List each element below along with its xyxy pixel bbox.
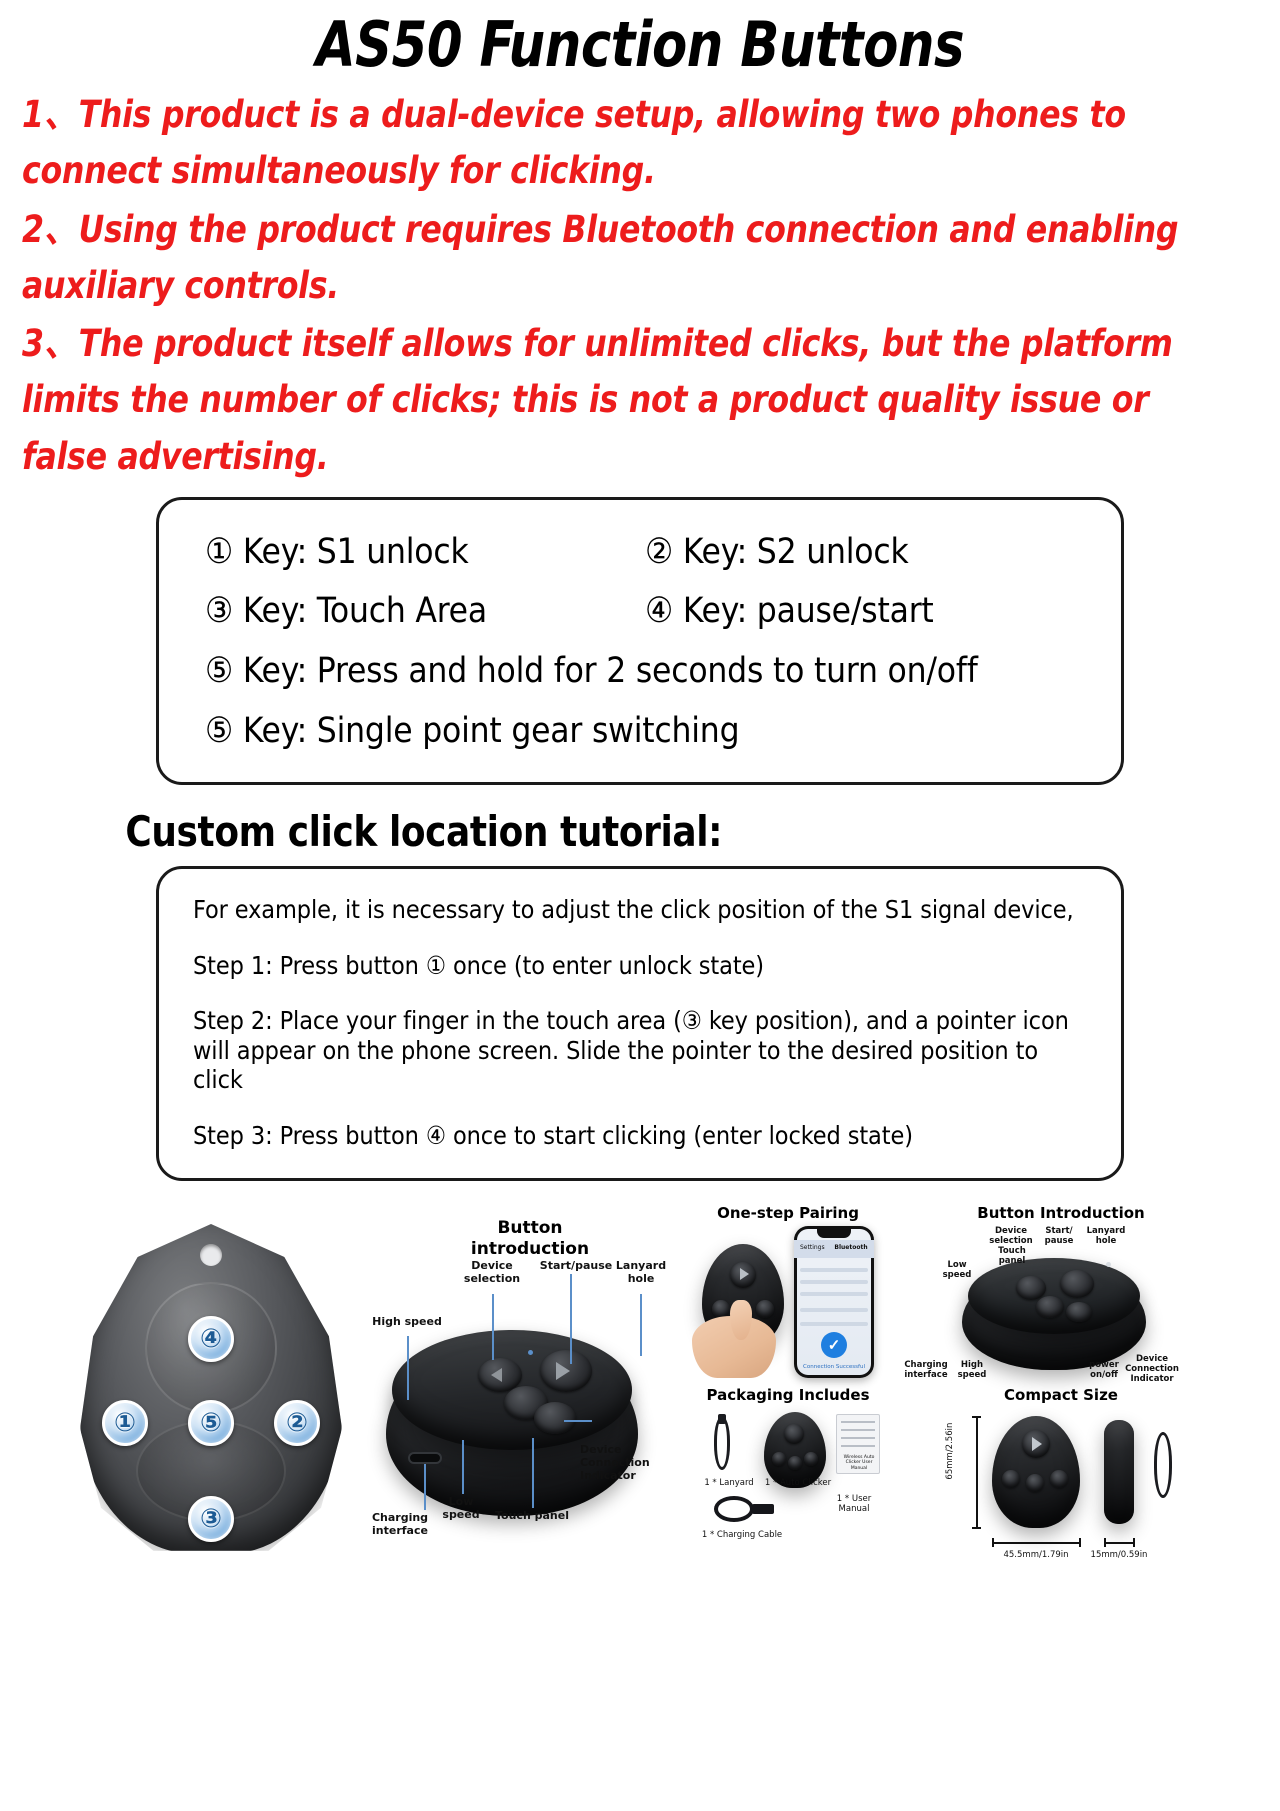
leader-start-pause [570, 1274, 572, 1364]
compact-button-a [1002, 1470, 1020, 1488]
key-item-5: ⑤ Key: Press and hold for 2 seconds to t… [205, 647, 1121, 697]
packaging-item-lanyard: 1 * Lanyard [696, 1478, 762, 1488]
compact-size-width: 45.5mm/1.79in [992, 1550, 1080, 1560]
device-body: ④ ① ⑤ ② ③ [80, 1224, 342, 1554]
packaging-item-auto-clicker: 1 * Auto Clicker [760, 1478, 836, 1488]
callout-1: ① [102, 1400, 148, 1446]
tutorial-box: For example, it is necessary to adjust t… [156, 866, 1124, 1181]
phone-mock: Settings Bluetooth ✓ Connection Successf… [794, 1226, 874, 1378]
right-label-low-speed: Low speed [936, 1260, 978, 1280]
indicator-led-dot [528, 1350, 533, 1355]
packaging-includes-panel: Packaging Includes Wireless Auto Clicker… [690, 1386, 886, 1586]
compact-size-depth: 15mm/0.59in [1088, 1550, 1150, 1560]
charging-cable-item [714, 1496, 754, 1522]
leader-touch-panel [532, 1438, 534, 1508]
label-device-connection-indicator: Device Connection Indicator [580, 1444, 676, 1483]
leader-low-speed [462, 1440, 464, 1494]
right-start-pause-button [1060, 1270, 1094, 1298]
packaging-item-user-manual: 1 * User Manual [822, 1494, 886, 1514]
key-function-box: ① Key: S1 unlock ② Key: S2 unlock ③ Key:… [156, 497, 1124, 786]
note-3: 3、The product itself allows for unlimite… [22, 316, 1200, 485]
device-callout-photo: ④ ① ⑤ ② ③ [62, 1202, 362, 1802]
right-label-charging-interface: Charging interface [898, 1360, 954, 1380]
label-high-speed: High speed [362, 1316, 452, 1329]
leader-charging-interface [424, 1464, 426, 1510]
right-lanyard-hole-icon [1106, 1262, 1111, 1267]
manual-text-line [841, 1421, 875, 1423]
device-selection-arrow-icon [491, 1368, 502, 1382]
manual-text-line [841, 1437, 875, 1439]
width-dimension-line [992, 1542, 1080, 1544]
key-item-6: ⑤ Key: Single point gear switching [205, 707, 1121, 757]
label-lanyard-hole: Lanyard hole [604, 1260, 678, 1286]
button-introduction-right-heading: Button Introduction [896, 1204, 1226, 1223]
phone-list-row [800, 1292, 868, 1296]
key-item-1: ① Key: S1 unlock [205, 528, 645, 578]
phone-list-row [800, 1280, 868, 1284]
page-title: AS50 Function Buttons [51, 0, 1229, 77]
leader-lanyard-hole [640, 1294, 642, 1356]
manual-text-line [841, 1445, 875, 1447]
depth-dim-cap-left [1104, 1538, 1106, 1547]
lanyard-clip-icon [718, 1414, 726, 1424]
right-label-device-connection-indicator: Device Connection Indicator [1124, 1354, 1180, 1385]
phone-list-row [800, 1322, 868, 1326]
height-dim-cap-top [972, 1416, 981, 1418]
height-dimension-line [976, 1416, 978, 1528]
callout-4: ④ [188, 1316, 234, 1362]
note-1: 1、This product is a dual-device setup, a… [22, 87, 1200, 199]
right-label-device-selection: Device selection [988, 1226, 1034, 1246]
callout-3: ③ [188, 1496, 234, 1542]
phone-list-row [800, 1268, 868, 1272]
lanyard-item-icon [714, 1416, 730, 1470]
note-2: 2、Using the product requires Bluetooth c… [22, 202, 1200, 314]
compact-size-heading: Compact Size [896, 1386, 1226, 1405]
depth-dimension-line [1104, 1542, 1134, 1544]
phone-bluetooth-label: Bluetooth [830, 1244, 872, 1251]
connection-successful-text: Connection Successful [796, 1364, 872, 1371]
right-mode-button [1066, 1302, 1092, 1322]
depth-dim-cap-right [1133, 1538, 1135, 1547]
start-pause-arrow-icon [556, 1362, 570, 1380]
red-notes-block: 1、This product is a dual-device setup, a… [0, 77, 1280, 485]
charging-cable-plug-icon [752, 1504, 774, 1514]
one-step-pairing-heading: One-step Pairing [690, 1204, 886, 1223]
auto-clicker-button-b [788, 1456, 802, 1470]
manual-caption: Wireless Auto Clicker User Manual [839, 1455, 879, 1471]
tutorial-heading: Custom click location tutorial: [0, 785, 1216, 866]
width-dim-cap-left [992, 1538, 994, 1547]
height-dim-cap-bottom [972, 1527, 981, 1529]
leader-device-connection-indicator [564, 1420, 592, 1422]
callout-5: ⑤ [188, 1400, 234, 1446]
right-label-lanyard-hole: Lanyard hole [1082, 1226, 1130, 1246]
leader-high-speed [407, 1336, 409, 1400]
mode-button[interactable] [534, 1402, 576, 1434]
width-dim-cap-right [1079, 1538, 1081, 1547]
key-function-grid: ① Key: S1 unlock ② Key: S2 unlock ③ Key:… [159, 528, 1121, 757]
key-item-3: ③ Key: Touch Area [205, 587, 645, 637]
packaging-includes-heading: Packaging Includes [690, 1386, 886, 1405]
label-device-selection: Device selection [452, 1260, 532, 1286]
auto-clicker-button-a [772, 1452, 786, 1466]
charging-port-icon [408, 1452, 442, 1464]
manual-text-line [841, 1429, 875, 1431]
right-power-button [1036, 1296, 1064, 1318]
right-device-selection-button [1016, 1276, 1046, 1300]
compact-side-device [1104, 1420, 1134, 1524]
right-label-start-pause: Start/ pause [1038, 1226, 1080, 1246]
tutorial-intro: For example, it is necessary to adjust t… [193, 895, 1087, 925]
lanyard-hole-icon [200, 1244, 222, 1266]
button-intro-heading-line2: introduction [430, 1239, 630, 1260]
right-label-power: power on/off [1084, 1360, 1124, 1380]
tutorial-step-2: Step 2: Place your finger in the touch a… [193, 1006, 1087, 1095]
leader-device-selection [492, 1294, 494, 1360]
button-intro-heading: Button introduction [430, 1218, 630, 1261]
key-item-4: ④ Key: pause/start [645, 587, 1121, 637]
handheld-right-button[interactable] [756, 1300, 774, 1318]
tutorial-step-1: Step 1: Press button ① once (to enter un… [193, 951, 1087, 981]
compact-button-b [1026, 1474, 1044, 1492]
button-intro-heading-line1: Button [430, 1218, 630, 1239]
user-manual-item: Wireless Auto Clicker User Manual [836, 1414, 880, 1474]
right-label-high-speed: High speed [954, 1360, 990, 1380]
compact-button-c [1050, 1470, 1068, 1488]
product-photo-gallery: ④ ① ⑤ ② ③ Button introduction High speed… [0, 1190, 1280, 1811]
callout-2: ② [274, 1400, 320, 1446]
right-label-touch-panel: Touch panel [992, 1246, 1032, 1266]
compact-size-height: 65mm/2.56in [945, 1421, 955, 1481]
auto-clicker-button-c [804, 1452, 818, 1466]
compact-lanyard [1154, 1432, 1172, 1498]
play-arrow-icon [740, 1268, 749, 1280]
one-step-pairing-panel: One-step Pairing Settings Bluetooth ✓ Co… [690, 1204, 886, 1384]
phone-notch [817, 1229, 851, 1238]
tutorial-step-3: Step 3: Press button ④ once to start cli… [193, 1121, 1087, 1151]
key-item-2: ② Key: S2 unlock [645, 528, 1121, 578]
button-introduction-right-panel: Button Introduction Device selection Sta… [896, 1204, 1226, 1384]
phone-settings-label: Settings [800, 1244, 830, 1251]
packaging-item-charging-cable: 1 * Charging Cable [696, 1530, 788, 1540]
label-touch-panel: Touch panel [482, 1510, 582, 1523]
auto-clicker-main-button [784, 1424, 804, 1444]
pairing-success-check-icon: ✓ [821, 1332, 847, 1358]
compact-play-arrow-icon [1032, 1437, 1042, 1451]
button-introduction-panel: Button introduction High speed Device se… [352, 1190, 682, 1810]
phone-list-row [800, 1308, 868, 1312]
compact-size-panel: Compact Size 65mm/2.56in 45.5mm/1.79in 1… [896, 1386, 1226, 1586]
